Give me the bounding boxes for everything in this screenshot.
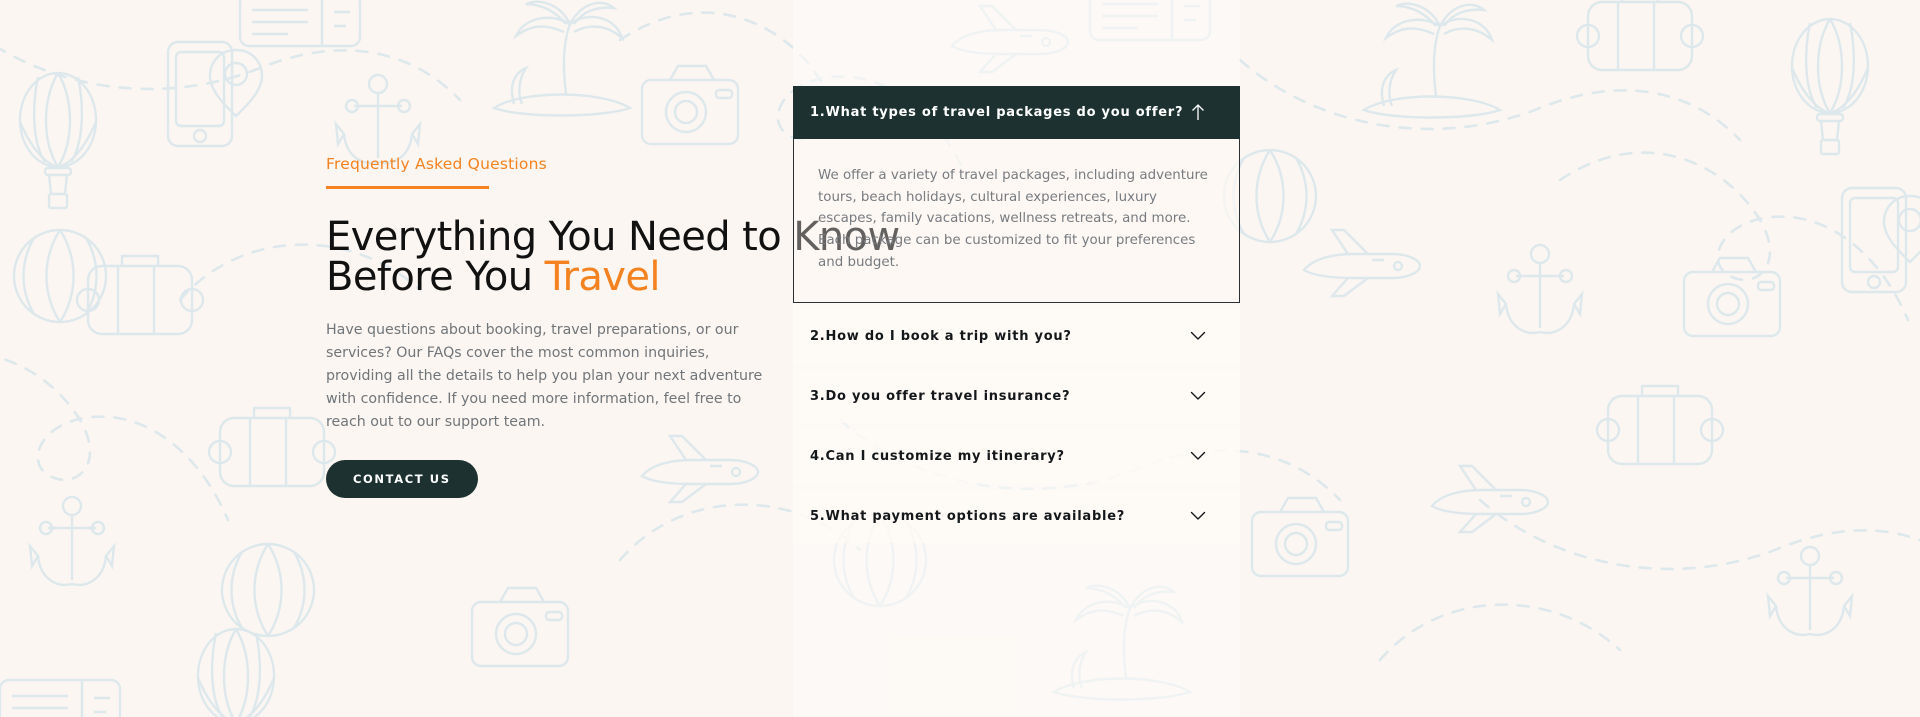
faq-number-3: 3.: [810, 389, 825, 404]
chevron-down-icon[interactable]: [1189, 447, 1207, 465]
chevron-down-icon[interactable]: [1189, 387, 1207, 405]
intro-paragraph: Have questions about booking, travel pre…: [326, 319, 774, 434]
faq-question-5: 5.What payment options are available?: [810, 509, 1125, 524]
faq-question-4: 4.Can I customize my itinerary?: [810, 449, 1065, 464]
eyebrow-underline: [326, 186, 489, 189]
faq-number-4: 4.: [810, 449, 825, 464]
faq-question-text-2: How do I book a trip with you?: [825, 329, 1071, 344]
faq-question-1: 1.What types of travel packages do you o…: [810, 105, 1183, 120]
section-eyebrow: Frequently Asked Questions: [326, 155, 786, 174]
faq-question-3: 3.Do you offer travel insurance?: [810, 389, 1070, 404]
faq-item-4: 4.Can I customize my itinerary?: [793, 430, 1240, 483]
faq-spacer: [793, 483, 1240, 490]
faq-question-text-3: Do you offer travel insurance?: [825, 389, 1070, 404]
faq-item-1: 1.What types of travel packages do you o…: [793, 86, 1240, 303]
faq-item-3: 3.Do you offer travel insurance?: [793, 370, 1240, 423]
faq-answer-text-1: We offer a variety of travel packages, i…: [818, 165, 1208, 274]
headline-line-1: Everything You Need to Know: [326, 217, 786, 257]
faq-question-text-1: What types of travel packages do you off…: [825, 105, 1183, 120]
faq-header-1[interactable]: 1.What types of travel packages do you o…: [793, 86, 1240, 139]
faq-question-text-4: Can I customize my itinerary?: [825, 449, 1064, 464]
faq-number-5: 5.: [810, 509, 825, 524]
chevron-down-icon[interactable]: [1189, 507, 1207, 525]
faq-spacer: [793, 303, 1240, 310]
faq-item-5: 5.What payment options are available?: [793, 490, 1240, 543]
contact-us-button[interactable]: CONTACT US: [326, 460, 478, 498]
faq-header-2[interactable]: 2.How do I book a trip with you?: [793, 310, 1240, 363]
faq-question-text-5: What payment options are available?: [825, 509, 1125, 524]
headline-accent-text: Travel: [545, 254, 660, 300]
faq-question-2: 2.How do I book a trip with you?: [810, 329, 1072, 344]
arrow-up-icon[interactable]: [1189, 104, 1207, 122]
faq-number-1: 1.: [810, 105, 825, 120]
faq-header-4[interactable]: 4.Can I customize my itinerary?: [793, 430, 1240, 483]
faq-answer-panel-1: We offer a variety of travel packages, i…: [793, 139, 1240, 303]
faq-spacer: [793, 363, 1240, 370]
faq-accordion: 1.What types of travel packages do you o…: [793, 86, 1240, 543]
faq-section: Frequently Asked Questions Everything Yo…: [0, 0, 1920, 717]
page-title: Everything You Need to Know Before You T…: [326, 217, 786, 297]
faq-item-2: 2.How do I book a trip with you?: [793, 310, 1240, 363]
faq-intro-column: Frequently Asked Questions Everything Yo…: [326, 155, 786, 498]
headline-plain-text: Before You: [326, 254, 545, 300]
faq-header-3[interactable]: 3.Do you offer travel insurance?: [793, 370, 1240, 423]
faq-header-5[interactable]: 5.What payment options are available?: [793, 490, 1240, 543]
chevron-down-icon[interactable]: [1189, 327, 1207, 345]
headline-line-2: Before You Travel: [326, 257, 786, 297]
faq-spacer: [793, 423, 1240, 430]
faq-number-2: 2.: [810, 329, 825, 344]
